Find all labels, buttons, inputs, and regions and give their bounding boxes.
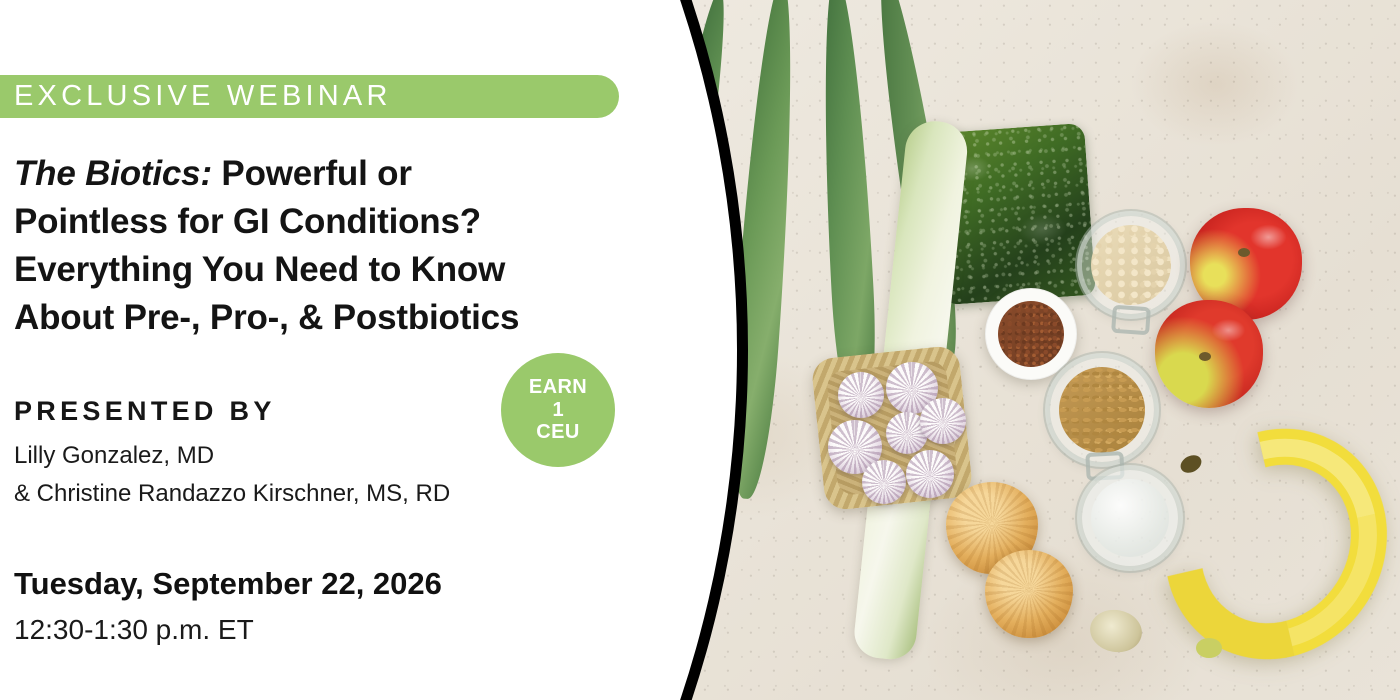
page-title: The Biotics: Powerful orPointless for GI… — [14, 150, 654, 342]
ceu-badge: EARN 1 CEU — [501, 353, 615, 467]
presented-by-heading: PRESENTED BY — [14, 398, 276, 425]
banana-blossom-tip — [1196, 638, 1222, 658]
webinar-date: Tuesday, September 22, 2026 — [14, 568, 442, 599]
rolled-oats — [1091, 225, 1171, 305]
jar-clip-icon — [1111, 305, 1151, 336]
poster-content-panel: EXCLUSIVE WEBINAR The Biotics: Powerful … — [0, 0, 660, 700]
banana-highlight — [1136, 400, 1400, 687]
speaker-name-1: Lilly Gonzalez, MD — [14, 444, 214, 468]
title-emphasis: The Biotics: — [14, 154, 212, 193]
title-line1-rest: Powerful or — [212, 154, 412, 193]
title-line2: Pointless for GI Conditions? — [14, 202, 481, 241]
speaker-name-2: & Christine Randazzo Kirschner, MS, RD — [14, 482, 450, 506]
red-apple — [1155, 300, 1263, 408]
ceu-badge-line1: EARN — [529, 376, 587, 398]
flax-seeds — [998, 301, 1064, 367]
apple-stem — [1238, 248, 1250, 257]
ceu-badge-line2: 1 — [552, 399, 563, 421]
empty-glass-jar — [1082, 470, 1178, 566]
empty-jar-glass — [1091, 479, 1169, 557]
webinar-promo-poster: EXCLUSIVE WEBINAR The Biotics: Powerful … — [0, 0, 1400, 700]
garlic-bulb — [838, 372, 884, 418]
garlic-bulb — [920, 398, 966, 444]
webinar-time: 12:30-1:30 p.m. ET — [14, 616, 254, 644]
wheat-grains — [1059, 367, 1145, 453]
ceu-badge-line3: CEU — [536, 421, 579, 443]
ribbon-label: EXCLUSIVE WEBINAR — [0, 82, 392, 111]
apple-stem — [1199, 352, 1211, 361]
flax-seed-bowl — [985, 288, 1077, 380]
garlic-bulb — [862, 460, 906, 504]
banana — [1168, 426, 1384, 662]
garlic-bulb — [906, 450, 954, 498]
exclusive-webinar-ribbon: EXCLUSIVE WEBINAR — [0, 75, 619, 118]
onion — [985, 550, 1073, 638]
wheat-grain-jar — [1050, 358, 1154, 462]
title-line3: Everything You Need to Know — [14, 250, 505, 289]
oats-jar — [1082, 216, 1180, 314]
title-line4: About Pre-, Pro-, & Postbiotics — [14, 298, 519, 337]
